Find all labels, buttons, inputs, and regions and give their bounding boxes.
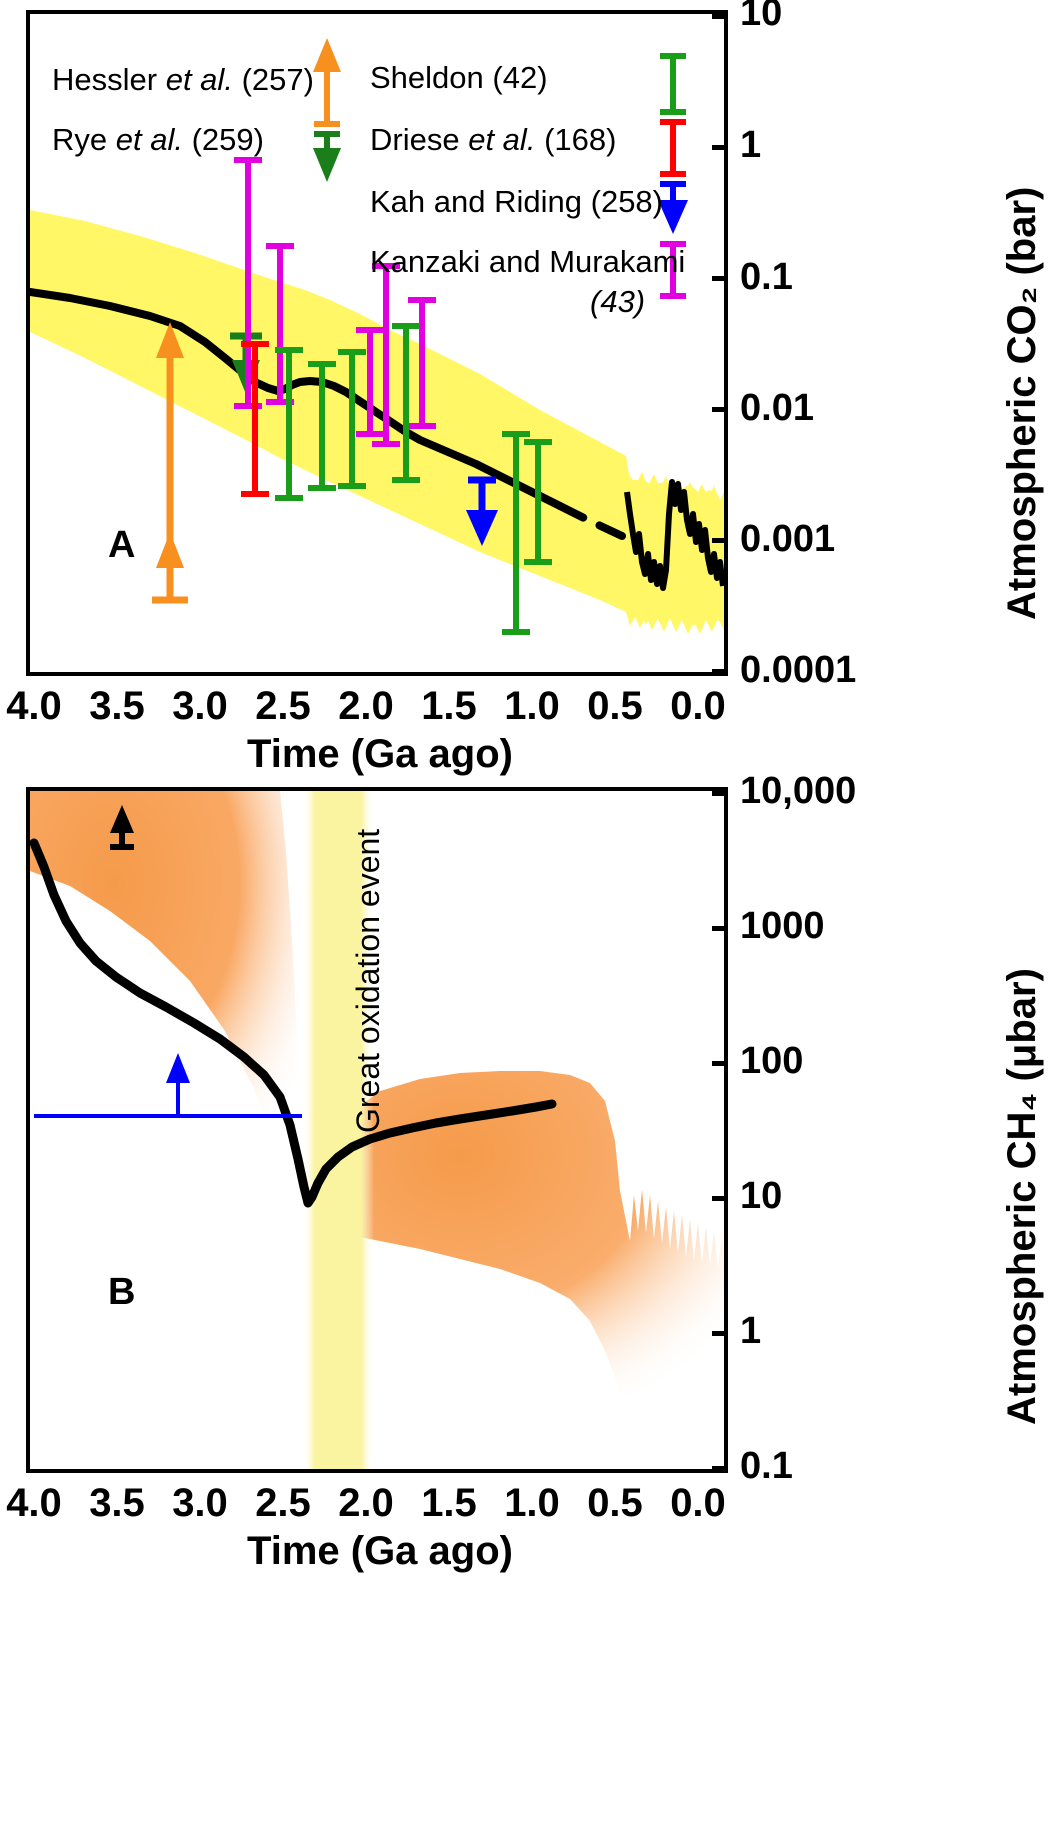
panel-b-xtick-2.0: 2.0: [326, 1481, 406, 1526]
panel-a-ytick-0.001: 0.001: [740, 518, 835, 561]
panel-a-ytick-10: 10: [740, 0, 782, 35]
panel-a-xtick-4.0: 4.0: [0, 684, 74, 729]
panel-a-xtick-3.5: 3.5: [77, 684, 157, 729]
panel-b-ytick-10: 10: [740, 1175, 782, 1218]
panel-b-xtick-3.5: 3.5: [77, 1481, 157, 1526]
panel-b-xtick-0.5: 0.5: [575, 1481, 655, 1526]
panel-b-xtick-0.0: 0.0: [658, 1481, 738, 1526]
panel-a-ytick-0.0001: 0.0001: [740, 649, 856, 692]
panel-b-ytick-100: 100: [740, 1040, 803, 1083]
panel-a-x-axis-label: Time (Ga ago): [0, 732, 760, 777]
panel-b-ytick-1000: 1000: [740, 905, 825, 948]
panel-a-y-axis-label: Atmospheric CO₂ (bar): [1000, 187, 1045, 620]
panel-b-ch4-plot: B Great oxidation event: [26, 787, 728, 1473]
panel-a-ytick-0.01: 0.01: [740, 387, 814, 430]
panel-a-ytick-0.1: 0.1: [740, 256, 793, 299]
panel-a-co2-plot: A: [26, 10, 728, 676]
panel-a-xtick-2.5: 2.5: [243, 684, 323, 729]
panel-b-plot-area: B Great oxidation event: [30, 791, 724, 1469]
panel-a-svg: [30, 14, 724, 672]
panel-b-xtick-2.5: 2.5: [243, 1481, 323, 1526]
ch4-band-archean: [30, 791, 309, 1211]
goe-annotation-label: Great oxidation event: [350, 829, 387, 1133]
panel-b-xtick-4.0: 4.0: [0, 1481, 74, 1526]
panel-a-xtick-1.0: 1.0: [492, 684, 572, 729]
panel-b-y-axis-label: Atmospheric CH₄ (μbar): [1000, 968, 1045, 1425]
panel-b-xtick-1.5: 1.5: [409, 1481, 489, 1526]
panel-b-letter: B: [108, 1271, 135, 1314]
figure-root: A: [0, 0, 1050, 1841]
panel-a-xtick-0.5: 0.5: [575, 684, 655, 729]
panel-a-xtick-1.5: 1.5: [409, 684, 489, 729]
panel-b-x-axis-label: Time (Ga ago): [0, 1529, 760, 1574]
panel-b-ytick-10000: 10,000: [740, 770, 856, 813]
panel-a-ytick-1: 1: [740, 124, 761, 167]
panel-a-plot-area: A: [30, 14, 724, 672]
panel-a-xtick-0.0: 0.0: [658, 684, 738, 729]
panel-a-xtick-2.0: 2.0: [326, 684, 406, 729]
panel-a-letter: A: [108, 524, 135, 567]
panel-a-xtick-3.0: 3.0: [160, 684, 240, 729]
panel-b-ytick-0.1: 0.1: [740, 1445, 793, 1488]
panel-b-xtick-3.0: 3.0: [160, 1481, 240, 1526]
panel-b-ytick-1: 1: [740, 1310, 761, 1353]
panel-b-xtick-1.0: 1.0: [492, 1481, 572, 1526]
